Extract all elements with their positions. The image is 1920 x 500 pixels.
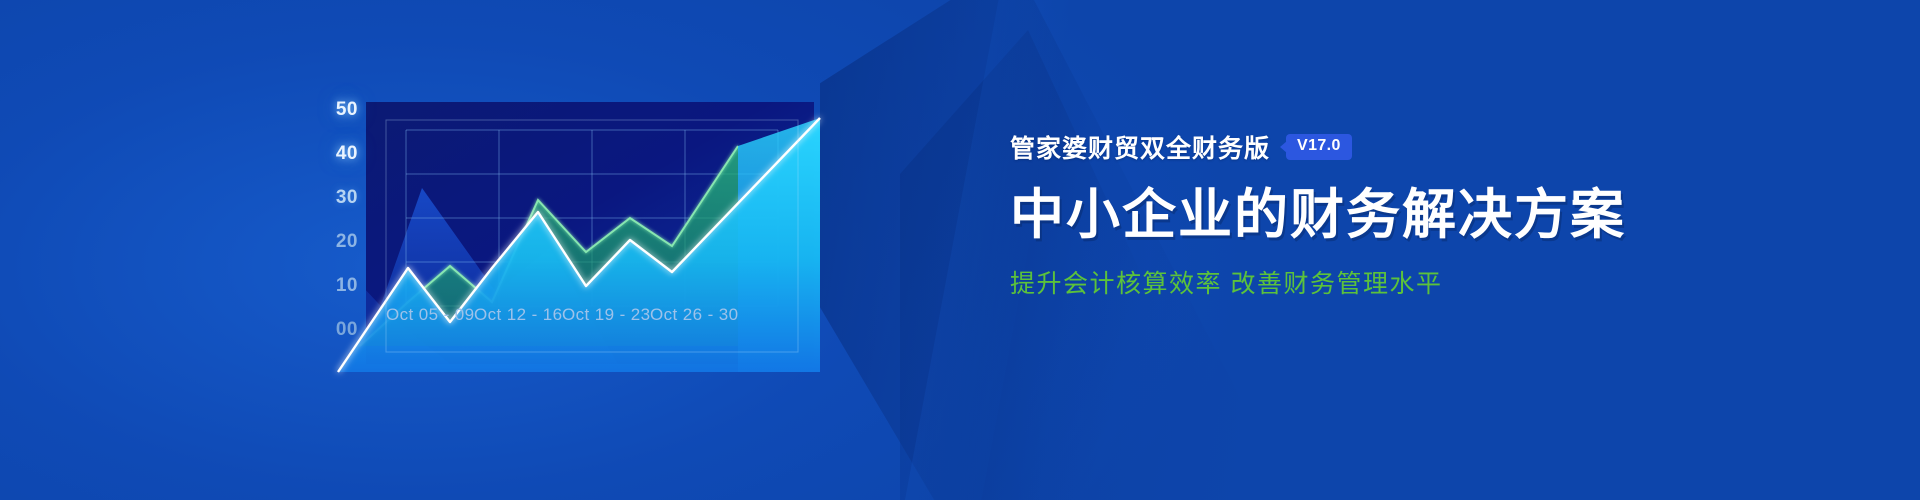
chart-y-axis: 50 40 30 20 10 00	[300, 60, 358, 360]
y-tick-20: 20	[300, 232, 358, 251]
chart-canvas	[300, 60, 960, 420]
y-tick-00: 00	[300, 320, 358, 339]
headline: 中小企业的财务解决方案	[1010, 186, 1610, 244]
growth-area-chart: 50 40 30 20 10 00 Oct 05 - 09 Oct 12 - 1…	[300, 60, 960, 420]
y-tick-40: 40	[300, 144, 358, 163]
version-badge: V17.0	[1286, 134, 1352, 160]
hero-banner: 50 40 30 20 10 00 Oct 05 - 09 Oct 12 - 1…	[0, 0, 1920, 500]
x-tick-1: Oct 05 - 09	[386, 305, 475, 325]
y-tick-30: 30	[300, 188, 358, 207]
x-tick-4: Oct 26 - 30	[650, 305, 739, 325]
hero-copy-block: 管家婆财贸双全财务版 V17.0 中小企业的财务解决方案 提升会计核算效率 改善…	[1010, 130, 1610, 300]
x-tick-2: Oct 12 - 16	[474, 305, 563, 325]
x-tick-3: Oct 19 - 23	[562, 305, 651, 325]
product-name: 管家婆财贸双全财务版	[1010, 129, 1270, 165]
product-name-row: 管家婆财贸双全财务版 V17.0	[1010, 130, 1610, 164]
y-tick-50: 50	[300, 100, 358, 119]
y-tick-10: 10	[300, 276, 358, 295]
subheadline: 提升会计核算效率 改善财务管理水平	[1010, 264, 1610, 300]
chart-x-axis: Oct 05 - 09 Oct 12 - 16 Oct 19 - 23 Oct …	[360, 305, 960, 335]
